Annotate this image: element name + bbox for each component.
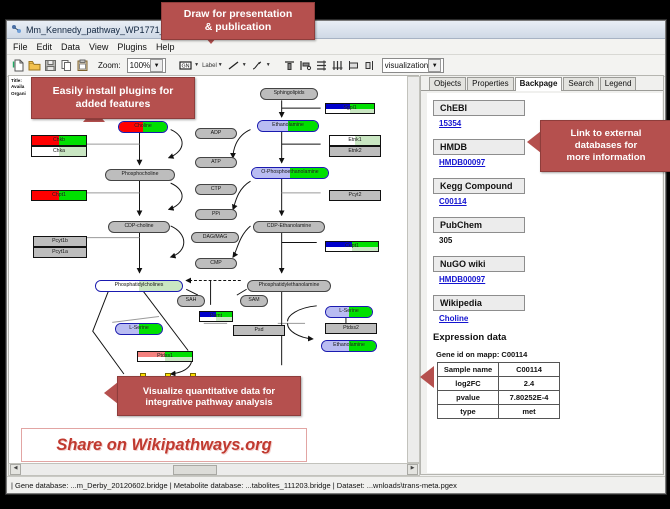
callout-draw-text: Draw for presentation& publication: [184, 8, 293, 34]
interaction-tool[interactable]: ▼: [250, 58, 271, 73]
database-header: Kegg Compound: [433, 178, 525, 194]
copy-icon[interactable]: [60, 58, 73, 73]
chevron-down-icon[interactable]: ▼: [428, 59, 441, 72]
pathway-gene-node[interactable]: Chka: [31, 146, 87, 157]
pathway-gene-node[interactable]: Chpt1: [31, 190, 87, 201]
pathway-metabolite-node[interactable]: ATP: [195, 157, 237, 168]
menu-edit[interactable]: Edit: [37, 42, 53, 52]
node-label: Ptdss2: [343, 326, 359, 331]
pathway-metabolite-node[interactable]: CTP: [195, 184, 237, 195]
node-label: Phosphatidylethanolamine: [259, 283, 320, 288]
paste-icon[interactable]: [76, 58, 89, 73]
pathway-metabolite-node[interactable]: CDP-Ethanolamine: [253, 221, 325, 233]
canvas-horizontal-scrollbar[interactable]: ◀ ▶: [8, 463, 420, 476]
node-label: L-Serine: [339, 309, 359, 314]
node-label: Chka: [53, 149, 65, 154]
expression-value: 2.4: [499, 377, 560, 391]
line-tool[interactable]: ▼: [226, 58, 247, 73]
node-label: PPi: [212, 212, 220, 217]
database-value: 305: [439, 236, 662, 245]
node-label: Chkb: [53, 138, 65, 143]
node-label: L-Serine: [129, 326, 149, 331]
callout-plugins-text: Easily install plugins foradded features: [53, 85, 174, 111]
tab-search[interactable]: Search: [563, 77, 598, 90]
distribute-vertical-icon[interactable]: [315, 58, 328, 73]
canvas-vertical-scrollbar[interactable]: [407, 76, 420, 463]
label-tool-text: Label: [202, 63, 217, 69]
visualization-value: visualization: [385, 61, 429, 70]
node-label: CMP: [210, 261, 222, 266]
side-panel-tabs[interactable]: ObjectsPropertiesBackpageSearchLegend: [421, 76, 663, 91]
pathway-gene-node[interactable]: Psd: [233, 325, 285, 336]
menu-bar: File Edit Data View Plugins Help: [7, 39, 665, 55]
callout-visualize-arrow: [104, 382, 118, 404]
node-label: SAH: [186, 298, 197, 303]
database-header: PubChem: [433, 217, 525, 233]
database-header: ChEBI: [433, 100, 525, 116]
node-label: Etnk2: [348, 149, 361, 154]
node-label: Chpt1: [52, 193, 66, 198]
pathway-gene-node[interactable]: Chkb: [31, 135, 87, 146]
expression-value: C00114: [499, 363, 560, 377]
pathway-gene-node[interactable]: Pemt: [199, 311, 233, 322]
chevron-down-icon[interactable]: ▼: [194, 63, 199, 68]
database-link[interactable]: Choline: [439, 314, 662, 323]
save-icon[interactable]: [44, 58, 57, 73]
pathway-canvas[interactable]: Title: Availa Organi: [8, 75, 419, 475]
expression-value: 7.80252E-4: [499, 391, 560, 405]
node-label: O-Phosphoethanolamine: [261, 170, 318, 175]
pathway-gene-node[interactable]: Ptdss2: [325, 323, 377, 334]
node-label: Sphingolipids: [274, 91, 305, 96]
table-row: Sample nameC00114: [438, 363, 560, 377]
pathway-metabolite-node[interactable]: Phosphatidylethanolamine: [247, 280, 331, 292]
pathway-gene-node[interactable]: Sgpl1: [325, 103, 375, 114]
pathway-gene-node[interactable]: Etnk1: [329, 135, 381, 146]
callout-links-arrow: [527, 131, 541, 153]
node-label: Etnk1: [348, 138, 361, 143]
database-header: NuGO wiki: [433, 256, 525, 272]
expression-key: Sample name: [438, 363, 499, 377]
align-top-icon[interactable]: [283, 58, 296, 73]
share-banner-text: Share on Wikipathways.org: [56, 436, 271, 455]
pathway-metabolite-node[interactable]: CMP: [195, 258, 237, 269]
node-label: Pcyt1a: [52, 250, 68, 255]
tab-properties[interactable]: Properties: [467, 77, 513, 90]
chevron-down-icon[interactable]: ▼: [150, 59, 163, 72]
expression-key: pvalue: [438, 391, 499, 405]
pathway-metabolite-node[interactable]: SAM: [240, 295, 268, 307]
database-link[interactable]: HMDB00097: [439, 275, 662, 284]
node-label: Cept1: [345, 244, 359, 249]
status-text: | Gene database: ...m_Derby_20120602.bri…: [11, 481, 457, 490]
pathway-metabolite-node[interactable]: ADP: [195, 128, 237, 139]
node-label: Choline: [134, 124, 152, 129]
database-header: HMDB: [433, 139, 525, 155]
table-row: pvalue7.80252E-4: [438, 391, 560, 405]
gene-id-label: Gene id on mapp: C00114: [436, 350, 662, 359]
node-label: Ptdss1: [157, 354, 173, 359]
pathvisio-icon: [11, 24, 22, 35]
node-label: Phosphocholine: [122, 172, 159, 177]
menu-plugins[interactable]: Plugins: [117, 42, 147, 52]
callout-visualize: Visualize quantitative data forintegrati…: [117, 376, 301, 416]
screenshot-root: Mm_Kennedy_pathway_WP1771_45176.gpml Fil…: [0, 0, 670, 509]
table-row: typemet: [438, 405, 560, 419]
pathway-metabolite-node[interactable]: Choline: [118, 121, 168, 133]
status-bar: | Gene database: ...m_Derby_20120602.bri…: [7, 476, 665, 493]
tab-objects[interactable]: Objects: [429, 77, 466, 90]
scroll-right-icon[interactable]: ▶: [407, 464, 418, 475]
pathway-metabolite-node[interactable]: Phosphatidylcholines: [95, 280, 183, 292]
pathway-metabolite-node[interactable]: DAG/MAG: [191, 232, 239, 243]
callout-draw: Draw for presentation& publication: [161, 2, 315, 40]
pathway-metabolite-node[interactable]: CDP-choline: [108, 221, 170, 233]
scroll-left-icon[interactable]: ◀: [10, 464, 21, 475]
pathway-metabolite-node[interactable]: Phosphocholine: [105, 169, 175, 181]
node-label: CDP-choline: [124, 224, 153, 229]
distribute-horizontal-icon[interactable]: [331, 58, 344, 73]
expression-value: met: [499, 405, 560, 419]
node-label: SAM: [248, 298, 259, 303]
node-label: Phosphatidylcholines: [115, 283, 164, 288]
title-bar: Mm_Kennedy_pathway_WP1771_45176.gpml: [7, 21, 665, 39]
pathway-gene-node[interactable]: Ptdss1: [137, 351, 193, 362]
pathway-gene-node[interactable]: Pcyt1a: [33, 247, 87, 258]
pathway-metabolite-node[interactable]: PPi: [195, 209, 237, 220]
node-label: Pemt: [210, 314, 222, 319]
node-label: ADP: [211, 131, 222, 136]
pathway-metabolite-node[interactable]: O-Phosphoethanolamine: [251, 167, 329, 179]
node-label: ATP: [211, 160, 221, 165]
datanode-icon[interactable]: GN: [178, 58, 193, 73]
menu-data[interactable]: Data: [61, 42, 80, 52]
pathvisio-window: Mm_Kennedy_pathway_WP1771_45176.gpml Fil…: [6, 20, 666, 494]
zoom-value: 100%: [130, 61, 150, 70]
node-label: Pcyt1b: [52, 239, 68, 244]
node-label: Sgpl1: [343, 106, 356, 111]
open-folder-icon[interactable]: [28, 58, 41, 73]
callout-visualize-text: Visualize quantitative data forintegrati…: [143, 385, 275, 408]
database-header: Wikipedia: [433, 295, 525, 311]
new-file-icon[interactable]: [12, 58, 25, 73]
callout-links-arrow-2: [420, 366, 434, 388]
align-left-icon[interactable]: [299, 58, 312, 73]
pathway-metabolite-node[interactable]: L-Serine: [325, 306, 373, 318]
svg-text:GN: GN: [182, 64, 190, 70]
menu-view[interactable]: View: [89, 42, 108, 52]
zoom-label: Zoom:: [98, 61, 121, 70]
node-label: Psd: [255, 328, 264, 333]
expression-key: type: [438, 405, 499, 419]
node-label: Ethanolamine: [272, 123, 304, 128]
pathway-metabolite-node[interactable]: L-Serine: [115, 323, 163, 335]
pathway-metabolite-node[interactable]: SAH: [177, 295, 205, 307]
pathway-metabolite-node[interactable]: Ethanolamine: [321, 340, 377, 352]
node-label: Ethanolamine: [333, 343, 365, 348]
share-banner: Share on Wikipathways.org: [21, 428, 307, 462]
scroll-thumb[interactable]: [173, 465, 217, 475]
size-common-height-icon[interactable]: [363, 58, 376, 73]
datanode-tool[interactable]: GN ▼: [178, 58, 199, 73]
tab-legend[interactable]: Legend: [600, 77, 637, 90]
chevron-down-icon[interactable]: ▼: [218, 63, 223, 68]
pathway-gene-node[interactable]: Pcyt2: [329, 190, 381, 201]
expression-table: Sample nameC00114log2FC2.4pvalue7.80252E…: [437, 362, 560, 419]
chevron-down-icon[interactable]: ▼: [266, 63, 271, 68]
zoom-combo[interactable]: 100% ▼: [127, 58, 166, 73]
tab-backpage[interactable]: Backpage: [515, 77, 563, 91]
node-label: DAG/MAG: [203, 235, 228, 240]
visualization-combo[interactable]: visualization ▼: [382, 58, 445, 73]
size-common-width-icon[interactable]: [347, 58, 360, 73]
callout-links-text: Link to externaldatabases formore inform…: [567, 128, 646, 163]
pathway-metabolite-node[interactable]: Sphingolipids: [260, 88, 318, 100]
pathway-metabolite-node[interactable]: Ethanolamine: [257, 120, 319, 132]
chevron-down-icon[interactable]: ▼: [242, 63, 247, 68]
node-label: CDP-Ethanolamine: [267, 224, 311, 229]
expression-key: log2FC: [438, 377, 499, 391]
node-label: CTP: [211, 187, 221, 192]
callout-links: Link to externaldatabases formore inform…: [540, 120, 670, 172]
menu-file[interactable]: File: [13, 42, 28, 52]
pathway-gene-node[interactable]: Etnk2: [329, 146, 381, 157]
database-link[interactable]: C00114: [439, 197, 662, 206]
node-label: Pcyt2: [349, 193, 362, 198]
pathway-gene-node[interactable]: Cept1: [325, 241, 379, 252]
interaction-icon[interactable]: [250, 58, 265, 73]
menu-help[interactable]: Help: [156, 42, 175, 52]
pathway-gene-node[interactable]: Pcyt1b: [33, 236, 87, 247]
line-icon[interactable]: [226, 58, 241, 73]
callout-plugins: Easily install plugins foradded features: [31, 77, 195, 119]
label-tool[interactable]: Label ▼: [202, 63, 223, 69]
expression-heading: Expression data: [433, 332, 662, 343]
table-row: log2FC2.4: [438, 377, 560, 391]
